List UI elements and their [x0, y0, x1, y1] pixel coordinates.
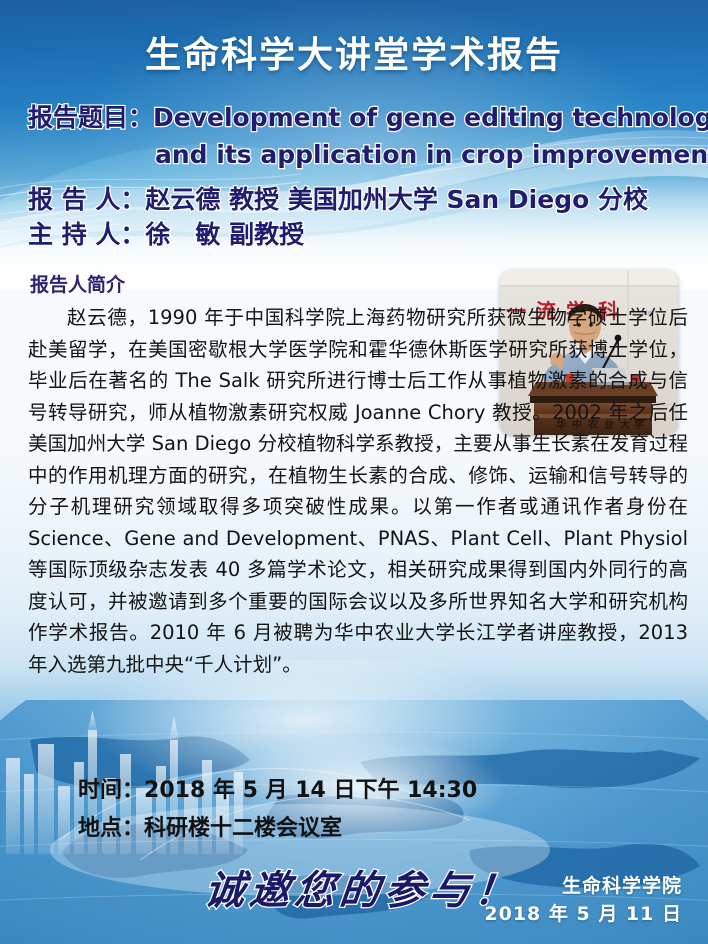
topic-label: 报告题目： [28, 103, 153, 132]
time-value: 2018 年 5 月 14 日下午 14:30 [144, 778, 477, 803]
host-line: 主 持 人：徐 敏 副教授 [28, 215, 304, 251]
place-line: 地点：科研楼十二楼会议室 [78, 810, 342, 842]
invitation-text: 诚邀您的参与！ [202, 858, 523, 916]
organizer-name: 生命科学学院 [484, 872, 682, 900]
organizer-block: 生命科学学院 2018 年 5 月 11 日 [484, 872, 682, 928]
place-label: 地点： [78, 816, 144, 841]
speaker-label: 报 告 人： [28, 185, 145, 214]
bio-heading: 报告人简介 [30, 270, 125, 297]
page-title: 生命科学大讲堂学术报告 [0, 26, 708, 78]
bio-paragraph-container: 赵云德，1990 年于中国科学院上海药物研究所获微生物学硕士学位后赴美留学，在美… [28, 302, 688, 680]
speaker-value: 赵云德 教授 美国加州大学 San Diego 分校 [145, 185, 648, 214]
host-label: 主 持 人： [28, 220, 145, 249]
poster-date: 2018 年 5 月 11 日 [484, 900, 682, 928]
time-label: 时间： [78, 778, 144, 803]
topic-line-2: and its application in crop improvement [155, 140, 708, 169]
speaker-line: 报 告 人：赵云德 教授 美国加州大学 San Diego 分校 [28, 180, 648, 216]
time-line: 时间：2018 年 5 月 14 日下午 14:30 [78, 772, 477, 804]
poster-root: 生命科学大讲堂学术报告 报告题目：Development of gene edi… [0, 0, 708, 944]
topic-line-1: Development of gene editing technology [153, 103, 708, 132]
place-value: 科研楼十二楼会议室 [144, 816, 342, 841]
host-value: 徐 敏 副教授 [145, 220, 304, 249]
topic-label-line: 报告题目：Development of gene editing technol… [28, 98, 708, 134]
bio-paragraph: 赵云德，1990 年于中国科学院上海药物研究所获微生物学硕士学位后赴美留学，在美… [28, 302, 688, 680]
